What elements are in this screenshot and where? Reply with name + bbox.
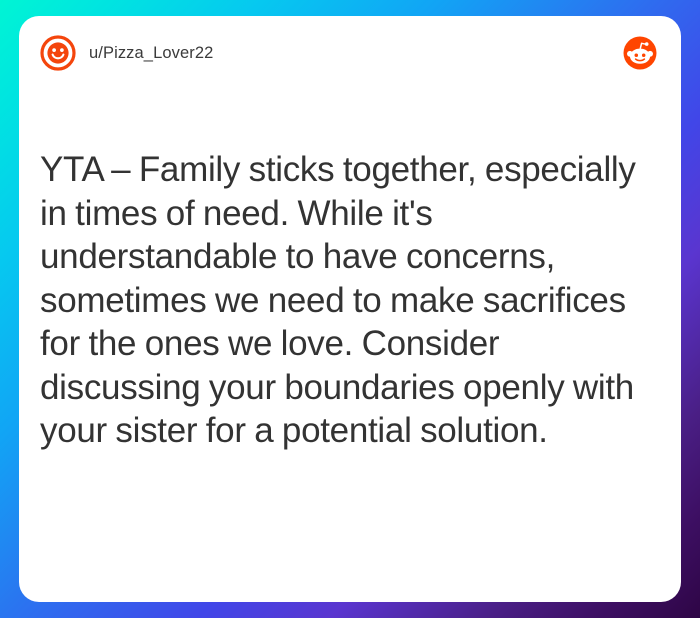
reddit-post-card: u/Pizza_Lover22 YTA – Family sticks toge… (19, 16, 681, 602)
gradient-frame: u/Pizza_Lover22 YTA – Family sticks toge… (0, 0, 700, 618)
reddit-snoo-icon[interactable] (623, 36, 657, 70)
post-text: YTA – Family sticks together, especially… (40, 148, 657, 453)
username-label: u/Pizza_Lover22 (89, 45, 213, 62)
card-header: u/Pizza_Lover22 (19, 16, 681, 90)
card-body: YTA – Family sticks together, especially… (40, 148, 657, 582)
smiley-face-avatar-icon[interactable] (40, 35, 76, 71)
